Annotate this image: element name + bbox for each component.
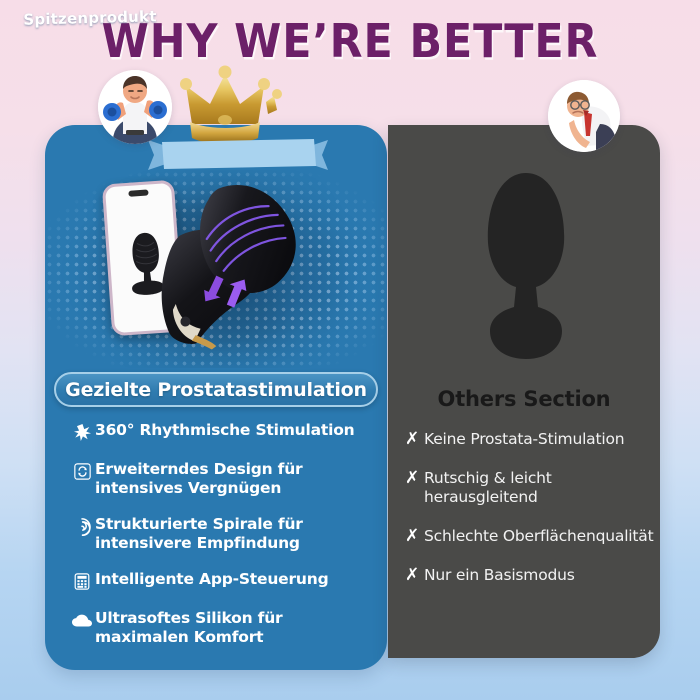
feature-item: Strukturierte Spirale für intensivere Em… [69,515,379,553]
feature-label: 360° Rhythmische Stimulation [95,421,355,440]
con-label: Keine Prostata-Stimulation [424,430,624,449]
con-label: Rutschig & leicht herausgleitend [424,469,552,507]
phone-notch [128,189,148,196]
thrusting-arrows-icon [195,270,251,316]
others-panel: Others Section ✗ Keine Prostata-Stimulat… [388,125,660,658]
others-heading: Others Section [388,387,660,411]
burst-star-icon [69,422,95,443]
generic-plug-silhouette [466,171,586,361]
cons-list: ✗ Keine Prostata-Stimulation ✗ Rutschig … [405,430,655,605]
feature-label: Erweiterndes Design für intensives Vergn… [95,460,302,498]
product-image-area [45,170,387,368]
feature-item: Ultrasoftes Silikon für maximalen Komfor… [69,609,379,647]
ribbon-label: Spitzenprodukt [0,0,180,38]
product-panel: Gezielte Prostatastimulation 360° Rhythm… [45,125,387,670]
feature-item: Intelligente App-Steuerung [69,570,379,592]
spiral-icon [69,516,95,537]
tired-businessman-avatar [548,80,620,152]
product-heading-pill: Gezielte Prostatastimulation [54,372,378,407]
cross-icon: ✗ [405,430,424,449]
app-grid-icon [69,571,95,592]
con-item: ✗ Schlechte Oberflächenqualität [405,527,655,546]
cross-icon: ✗ [405,469,424,488]
cross-icon: ✗ [405,566,424,585]
product-heading-label: Gezielte Prostatastimulation [65,379,367,401]
con-label: Schlechte Oberflächenqualität [424,527,653,546]
feature-label: Ultrasoftes Silikon für maximalen Komfor… [95,609,282,647]
feature-list: 360° Rhythmische Stimulation Erweiternde… [69,421,379,664]
con-label: Nur ein Basismodus [424,566,575,585]
feature-label: Strukturierte Spirale für intensivere Em… [95,515,303,553]
feature-label: Intelligente App-Steuerung [95,570,328,589]
feature-item: 360° Rhythmische Stimulation [69,421,379,443]
happy-muscular-man-avatar [98,70,172,144]
infographic-canvas: WHY WE’RE BETTER [0,0,700,700]
cloud-icon [69,610,95,631]
con-item: ✗ Keine Prostata-Stimulation [405,430,655,449]
refresh-square-icon [69,461,95,482]
feature-item: Erweiterndes Design für intensives Vergn… [69,460,379,498]
con-item: ✗ Rutschig & leicht herausgleitend [405,469,655,507]
cross-icon: ✗ [405,527,424,546]
ribbon-banner [148,136,328,172]
con-item: ✗ Nur ein Basismodus [405,566,655,585]
